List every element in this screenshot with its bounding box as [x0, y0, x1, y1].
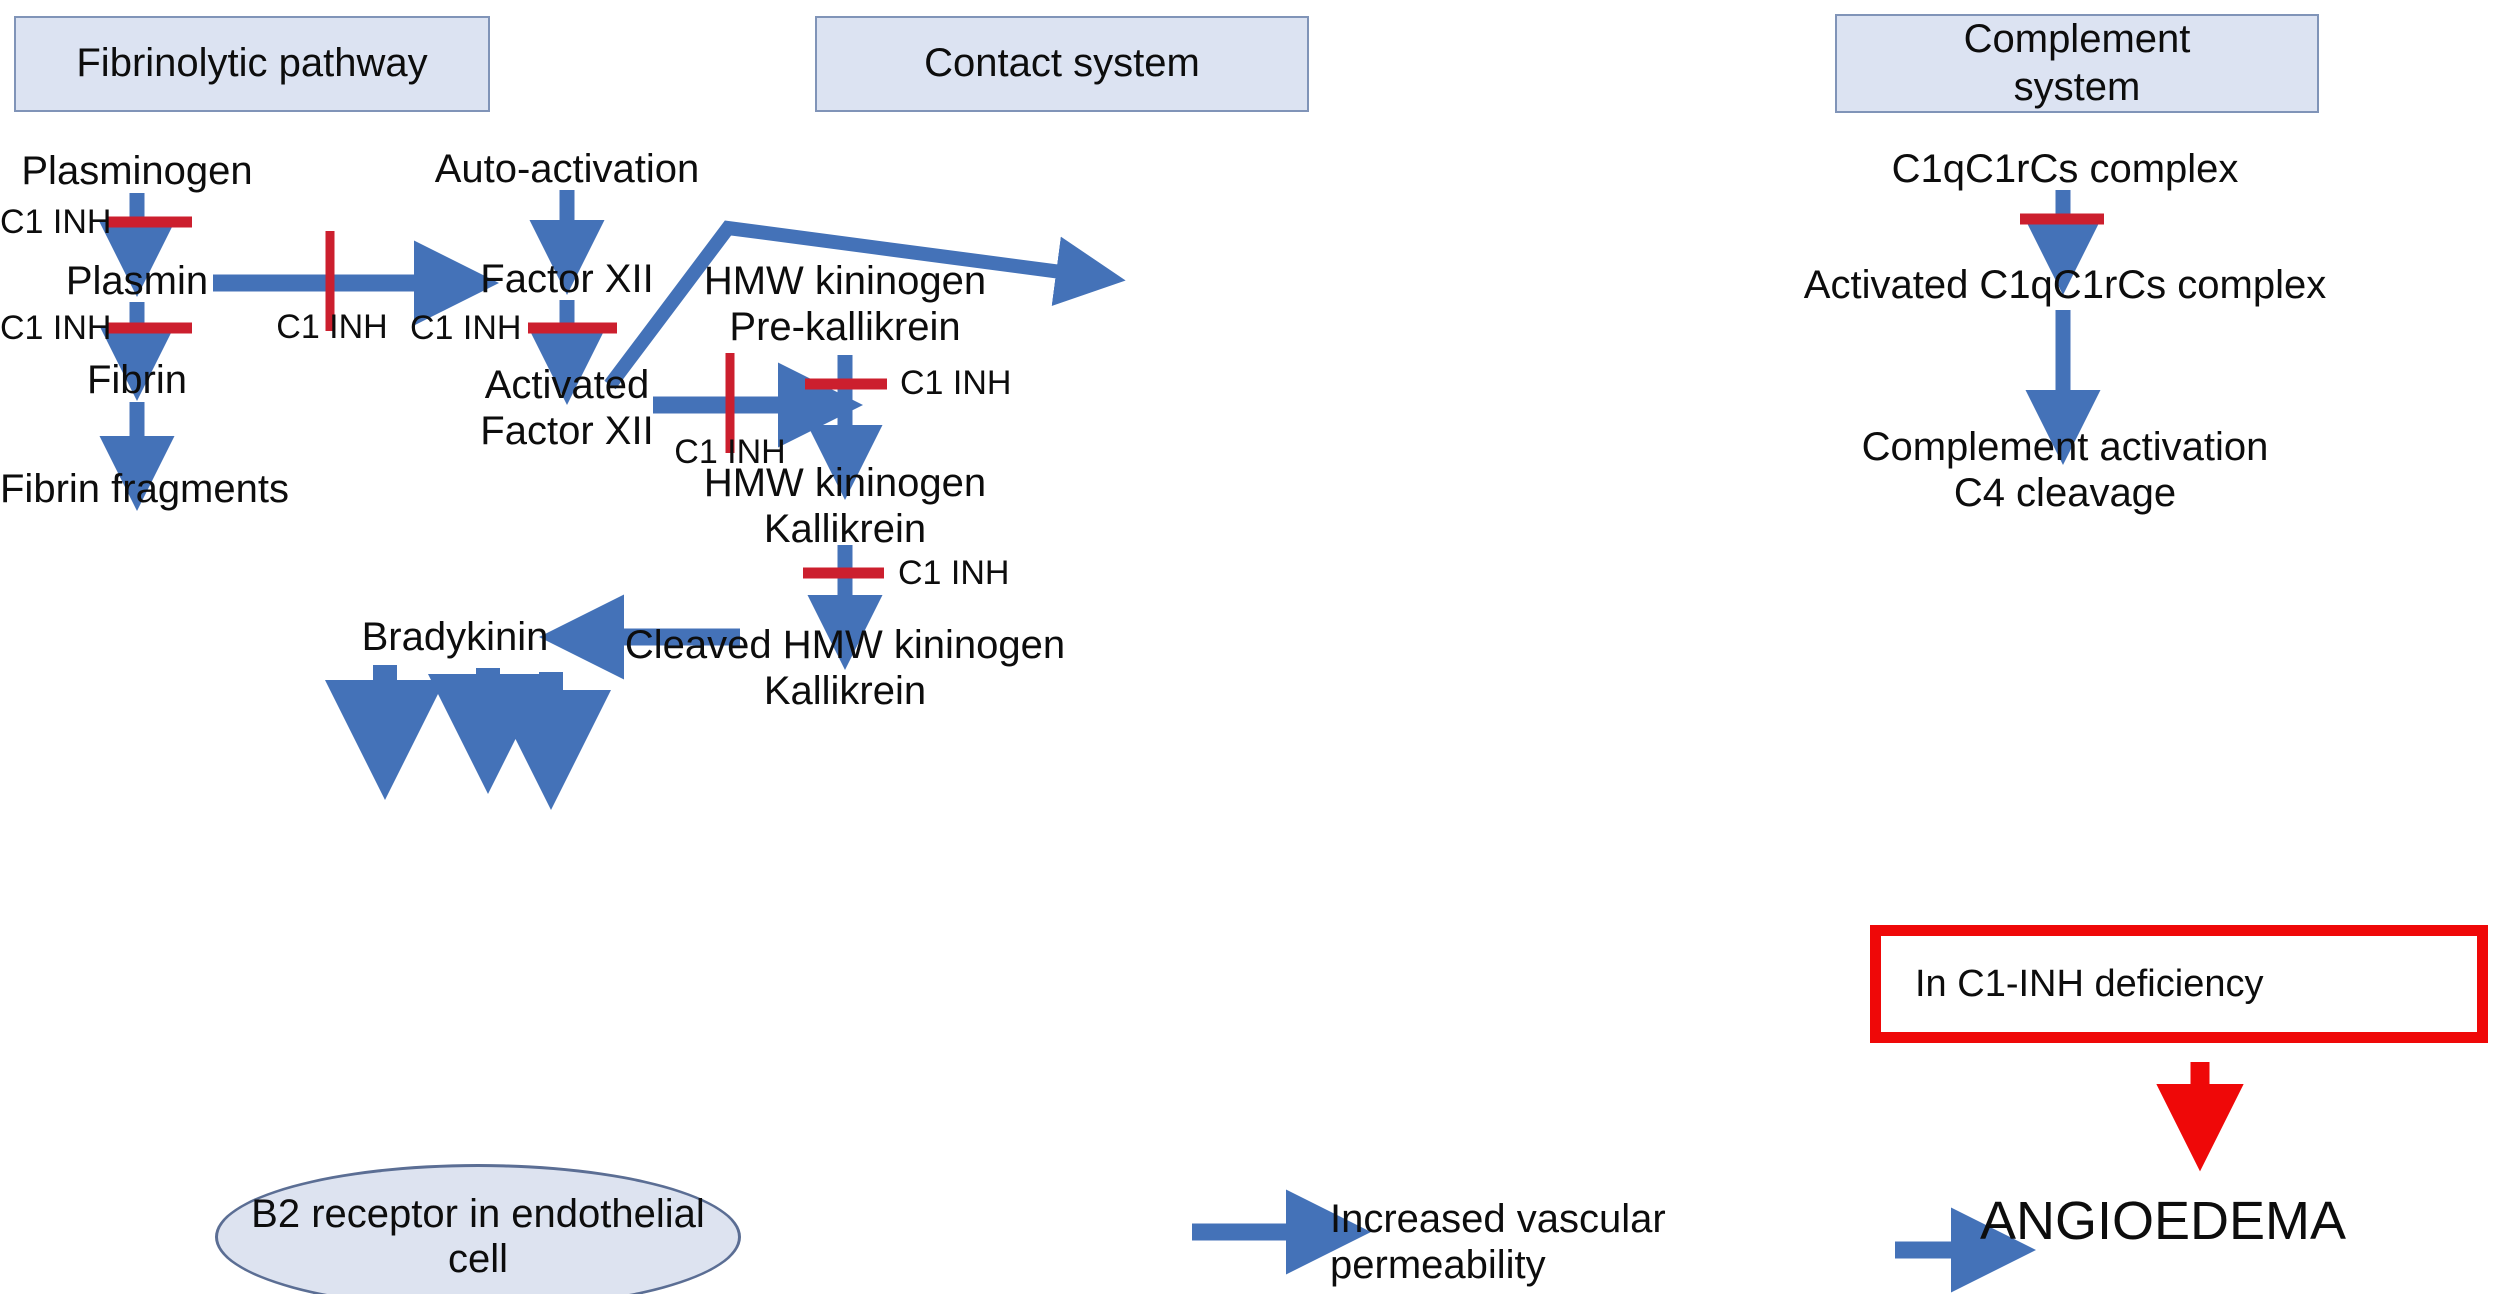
- node-bradykinin: Bradykinin: [290, 614, 620, 661]
- inhibitor-label-factorxii-to-activated: C1 INH: [410, 308, 515, 348]
- node-angioedema: ANGIOEDEMA: [1980, 1190, 2490, 1254]
- node-activated-c1qc1rcs-complex: Activated C1qC1rCs complex: [1770, 262, 2360, 309]
- node-complement-activation-line2: C4 cleavage: [1770, 470, 2360, 517]
- inhibitor-label-plasmin-to-fibrin: C1 INH: [0, 308, 105, 348]
- inhibitor-label-prekallikrein-to-kallikrein: C1 INH: [900, 363, 1040, 403]
- node-fibrin-fragments: Fibrin fragments: [0, 466, 274, 513]
- header-box-fibrinolytic-pathway: Fibrinolytic pathway: [14, 16, 490, 112]
- node-b2-receptor-ellipse: B2 receptor in endothelial cell: [215, 1164, 741, 1294]
- header-label-fibrinolytic-pathway: Fibrinolytic pathway: [76, 40, 427, 87]
- header-label-complement-system: Complement system: [1964, 16, 2191, 110]
- node-c1qc1rcs-complex: C1qC1rCs complex: [1840, 146, 2290, 193]
- node-increased-vascular-permeability-line2: permeability: [1330, 1242, 1750, 1289]
- node-b2-receptor-label: B2 receptor in endothelial cell: [218, 1192, 738, 1282]
- node-plasminogen: Plasminogen: [0, 148, 274, 195]
- inhibitor-label-plasmin-to-factorxii: C1 INH: [262, 307, 402, 347]
- header-box-complement-system: Complement system: [1835, 14, 2319, 113]
- node-cleaved-hmw-kininogen-line2: Kallikrein: [600, 668, 1090, 715]
- node-hmw-kininogen-prekallikrein-line2: Pre-kallikrein: [680, 304, 1010, 351]
- node-auto-activation: Auto-activation: [400, 146, 734, 193]
- callout-box-c1inh-deficiency: In C1-INH deficiency: [1870, 925, 2488, 1043]
- node-hmw-kininogen-kallikrein-line1: HMW kininogen: [680, 460, 1010, 507]
- node-complement-activation-line1: Complement activation: [1770, 424, 2360, 471]
- pathway-diagram: Fibrinolytic pathway Contact system Comp…: [0, 0, 2500, 1294]
- inhibitor-label-plasminogen-to-plasmin: C1 INH: [0, 202, 105, 242]
- node-plasmin: Plasmin: [0, 258, 274, 305]
- node-fibrin: Fibrin: [0, 357, 274, 404]
- callout-label-c1inh-deficiency: In C1-INH deficiency: [1915, 963, 2263, 1006]
- inhibitor-label-kallikrein-to-cleaved: C1 INH: [898, 553, 1038, 593]
- node-hmw-kininogen-prekallikrein-line1: HMW kininogen: [680, 258, 1010, 305]
- header-label-contact-system: Contact system: [924, 40, 1200, 87]
- node-increased-vascular-permeability-line1: Increased vascular: [1330, 1196, 1750, 1243]
- node-activated-factor-xii-line1: Activated: [400, 362, 734, 409]
- header-box-contact-system: Contact system: [815, 16, 1309, 112]
- node-cleaved-hmw-kininogen-line1: Cleaved HMW kininogen: [600, 622, 1090, 669]
- node-hmw-kininogen-kallikrein-line2: Kallikrein: [680, 506, 1010, 553]
